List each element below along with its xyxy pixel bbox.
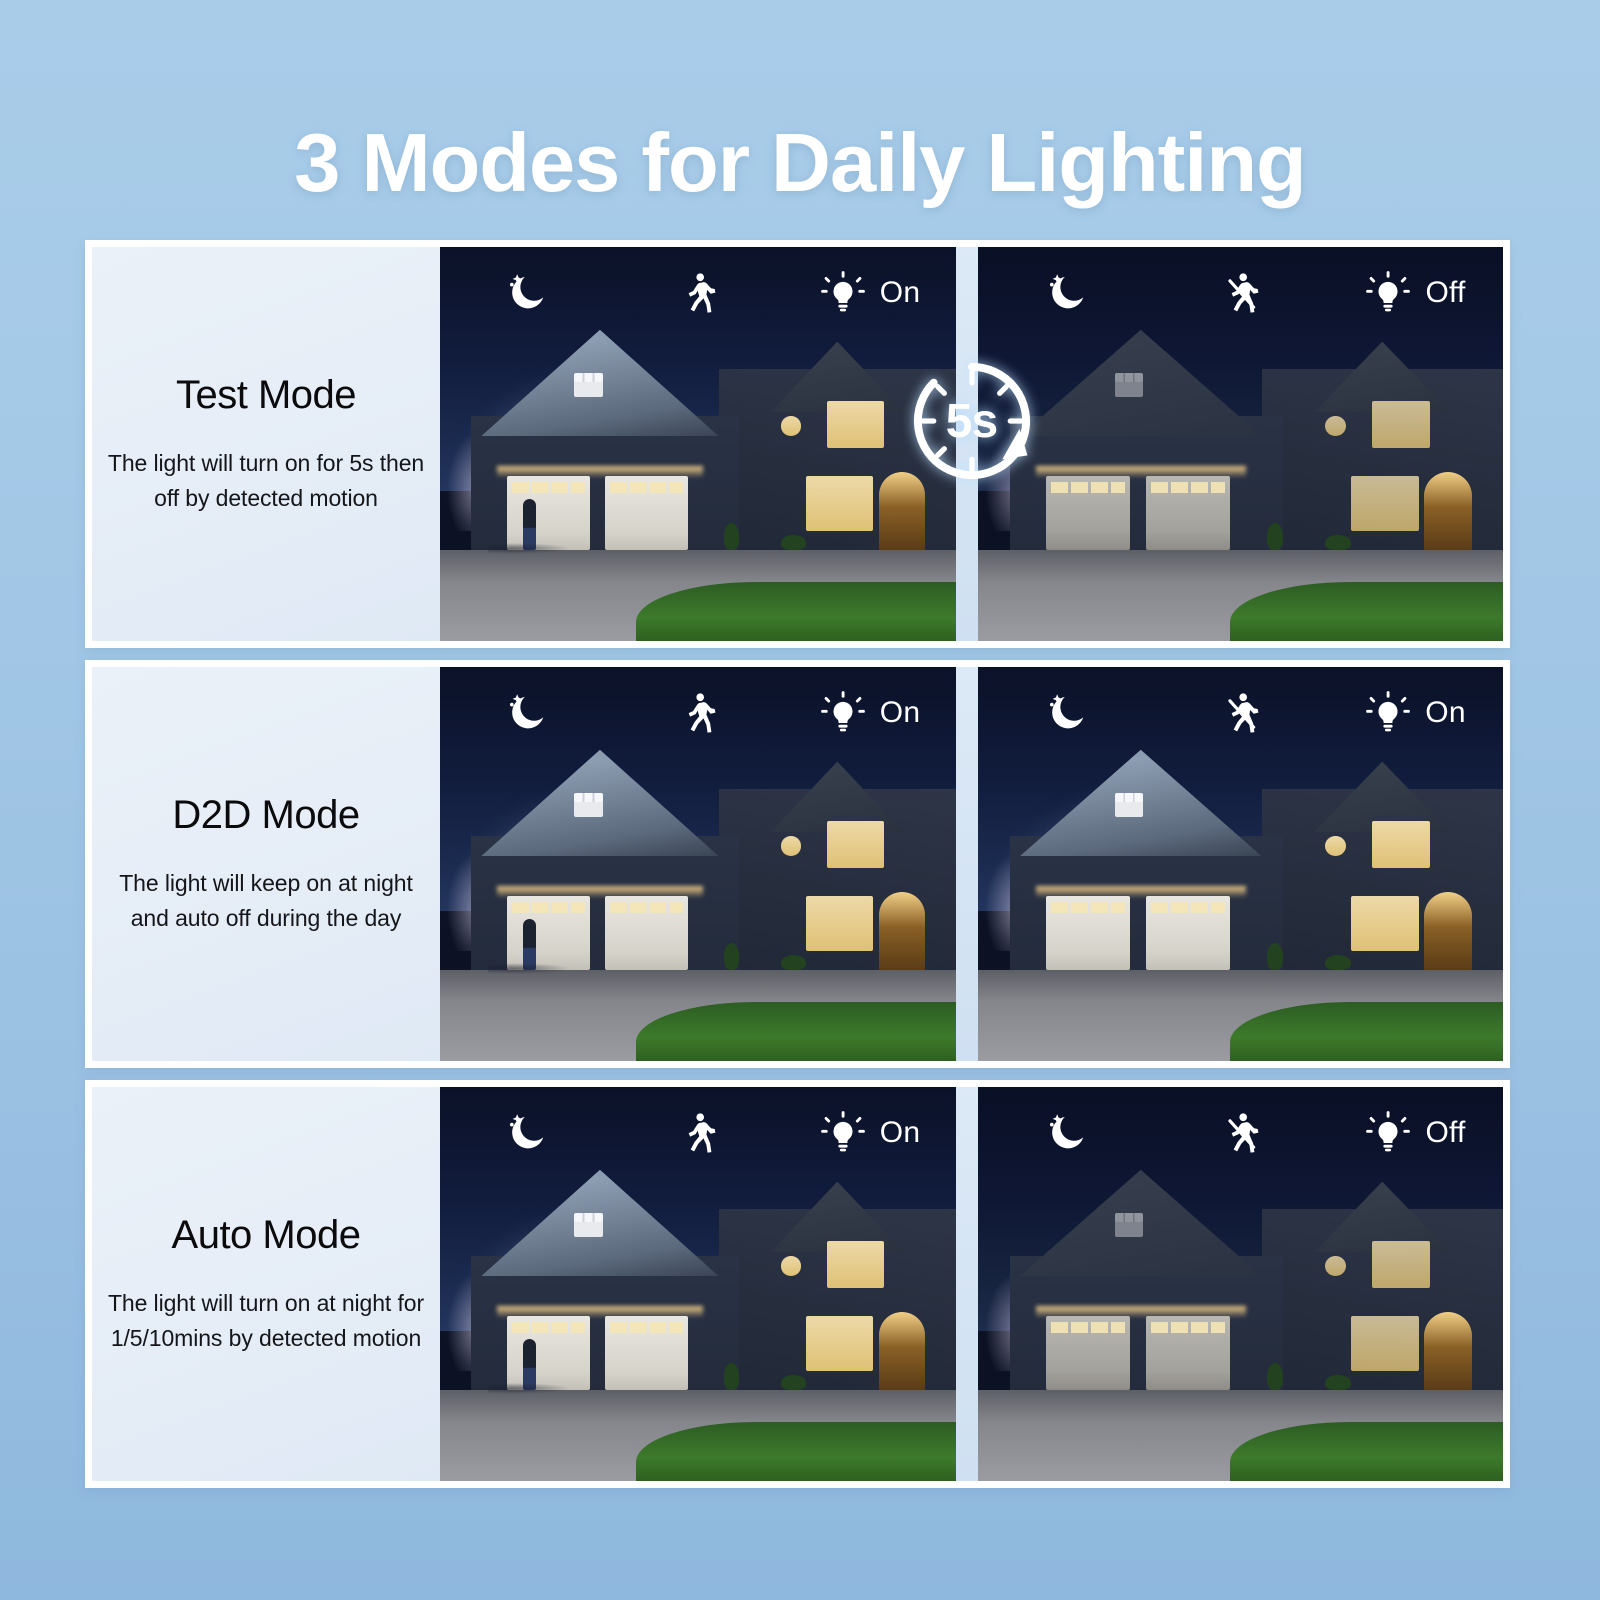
bay-window	[806, 1316, 873, 1371]
lamp-state-label: On	[1425, 696, 1465, 730]
shrub	[1325, 1375, 1351, 1391]
walking-person	[523, 1339, 536, 1390]
status-lamp: Off	[1328, 1110, 1503, 1156]
status-lamp: On	[784, 690, 956, 736]
mode-card-test-mode: Test Mode The light will turn on for 5s …	[85, 240, 1510, 648]
status-motion	[612, 271, 784, 315]
status-bar: On	[440, 247, 956, 339]
status-night	[978, 1110, 1153, 1156]
round-window	[1325, 416, 1346, 436]
garage-door-2	[605, 896, 688, 971]
status-lamp: Off	[1328, 270, 1503, 316]
front-door	[879, 472, 925, 551]
upper-window	[827, 821, 884, 868]
status-bar: On	[440, 667, 956, 759]
round-window	[1325, 836, 1346, 856]
page-title: 3 Modes for Daily Lighting	[0, 118, 1600, 208]
panel-divider	[956, 247, 978, 641]
garage-door-1	[507, 1316, 590, 1391]
mode-text-pane: Auto Mode The light will turn on at nigh…	[92, 1087, 440, 1481]
garage-door-2	[605, 1316, 688, 1391]
walking-person-icon	[676, 1111, 720, 1155]
status-bar: On	[978, 667, 1503, 759]
walking-person-slashed-icon	[1219, 1111, 1263, 1155]
garage-door-2	[1146, 1316, 1230, 1391]
front-door	[879, 892, 925, 971]
bay-window	[1351, 476, 1419, 531]
status-night	[978, 270, 1153, 316]
status-bar: Off	[978, 247, 1503, 339]
mode-description: The light will turn on at night for 1/5/…	[106, 1286, 426, 1354]
lightbulb-rays-icon	[820, 690, 866, 736]
mode-title: D2D Mode	[172, 793, 359, 838]
mode-card-d2d-mode: D2D Mode The light will keep on at night…	[85, 660, 1510, 1068]
upper-window	[1372, 1241, 1430, 1288]
shrub	[1267, 943, 1283, 971]
garage-door-2	[1146, 476, 1230, 551]
lamp-state-label: On	[880, 696, 920, 730]
front-door	[1424, 1312, 1471, 1391]
shrub	[1267, 523, 1283, 551]
walking-person-icon	[676, 271, 720, 315]
walking-person	[523, 919, 536, 970]
lightbulb-rays-icon	[820, 270, 866, 316]
moon-stars-icon	[503, 270, 549, 316]
round-window	[1325, 1256, 1346, 1276]
status-night	[440, 690, 612, 736]
front-door	[879, 1312, 925, 1391]
garage-door-1	[1046, 1316, 1130, 1391]
panel-divider	[956, 667, 978, 1061]
mode-text-pane: D2D Mode The light will keep on at night…	[92, 667, 440, 1061]
shrub	[781, 535, 807, 551]
status-no-motion	[1153, 271, 1328, 315]
lightbulb-rays-icon	[820, 1110, 866, 1156]
mode-photo-pair: On	[440, 667, 1503, 1061]
moon-stars-icon	[1043, 270, 1089, 316]
moon-stars-icon	[1043, 690, 1089, 736]
lamp-state-label: Off	[1425, 276, 1465, 310]
garage-door-1	[1046, 896, 1130, 971]
lamp-state-label: Off	[1425, 1116, 1465, 1150]
walking-person-slashed-icon	[1219, 691, 1263, 735]
security-light-fixture	[1115, 800, 1144, 817]
panel-divider	[956, 1087, 978, 1481]
status-bar: On	[440, 1087, 956, 1179]
status-motion	[612, 1111, 784, 1155]
status-lamp: On	[784, 1110, 956, 1156]
mode-photo-pair: On	[440, 1087, 1503, 1481]
shrub	[781, 1375, 807, 1391]
status-motion	[612, 691, 784, 735]
lightbulb-rays-icon	[1365, 270, 1411, 316]
mode-photo-pair: On	[440, 247, 1503, 641]
bay-window	[806, 896, 873, 951]
status-lamp: On	[1328, 690, 1503, 736]
upper-window	[827, 401, 884, 448]
photo-light-on: On	[440, 1087, 956, 1481]
upper-window	[1372, 401, 1430, 448]
lawn	[636, 1002, 956, 1061]
bay-window	[1351, 1316, 1419, 1371]
garage-door-1	[507, 896, 590, 971]
walking-person	[523, 499, 536, 550]
shrub	[781, 955, 807, 971]
lightbulb-rays-icon	[1365, 690, 1411, 736]
garage-door-2	[1146, 896, 1230, 971]
status-no-motion	[1153, 691, 1328, 735]
mode-text-pane: Test Mode The light will turn on for 5s …	[92, 247, 440, 641]
mode-description: The light will turn on for 5s then off b…	[106, 446, 426, 514]
bay-window	[806, 476, 873, 531]
security-light-fixture	[574, 380, 602, 397]
shrub	[1325, 535, 1351, 551]
mode-title: Auto Mode	[172, 1213, 361, 1258]
lamp-state-label: On	[880, 1116, 920, 1150]
status-night	[440, 1110, 612, 1156]
security-light-fixture	[574, 800, 602, 817]
lawn	[636, 1422, 956, 1481]
lawn	[1230, 1002, 1503, 1061]
moon-stars-icon	[503, 690, 549, 736]
photo-light-off: Off	[978, 247, 1503, 641]
lawn	[1230, 1422, 1503, 1481]
mode-title: Test Mode	[176, 373, 356, 418]
lawn	[1230, 582, 1503, 641]
shrub	[1325, 955, 1351, 971]
mode-card-auto-mode: Auto Mode The light will turn on at nigh…	[85, 1080, 1510, 1488]
garage-door-2	[605, 476, 688, 551]
lightbulb-rays-icon	[1365, 1110, 1411, 1156]
upper-window	[1372, 821, 1430, 868]
shrub	[1267, 1363, 1283, 1391]
garage-door-1	[507, 476, 590, 551]
lawn	[636, 582, 956, 641]
security-light-fixture	[574, 1220, 602, 1237]
shrub	[724, 943, 739, 971]
lamp-state-label: On	[880, 276, 920, 310]
moon-stars-icon	[1043, 1110, 1089, 1156]
status-night	[440, 270, 612, 316]
status-bar: Off	[978, 1087, 1503, 1179]
bay-window	[1351, 896, 1419, 951]
shrub	[724, 1363, 739, 1391]
photo-light-on-no-motion: On	[978, 667, 1503, 1061]
shrub	[724, 523, 739, 551]
mode-description: The light will keep on at night and auto…	[106, 866, 426, 934]
status-night	[978, 690, 1153, 736]
security-light-fixture	[1115, 380, 1144, 397]
walking-person-slashed-icon	[1219, 271, 1263, 315]
front-door	[1424, 892, 1471, 971]
photo-light-off: Off	[978, 1087, 1503, 1481]
moon-stars-icon	[503, 1110, 549, 1156]
status-no-motion	[1153, 1111, 1328, 1155]
photo-light-on: On	[440, 247, 956, 641]
infographic-page: 3 Modes for Daily Lighting Test Mode The…	[0, 0, 1600, 1600]
upper-window	[827, 1241, 884, 1288]
front-door	[1424, 472, 1471, 551]
walking-person-icon	[676, 691, 720, 735]
security-light-fixture	[1115, 1220, 1144, 1237]
status-lamp: On	[784, 270, 956, 316]
garage-door-1	[1046, 476, 1130, 551]
photo-light-on: On	[440, 667, 956, 1061]
